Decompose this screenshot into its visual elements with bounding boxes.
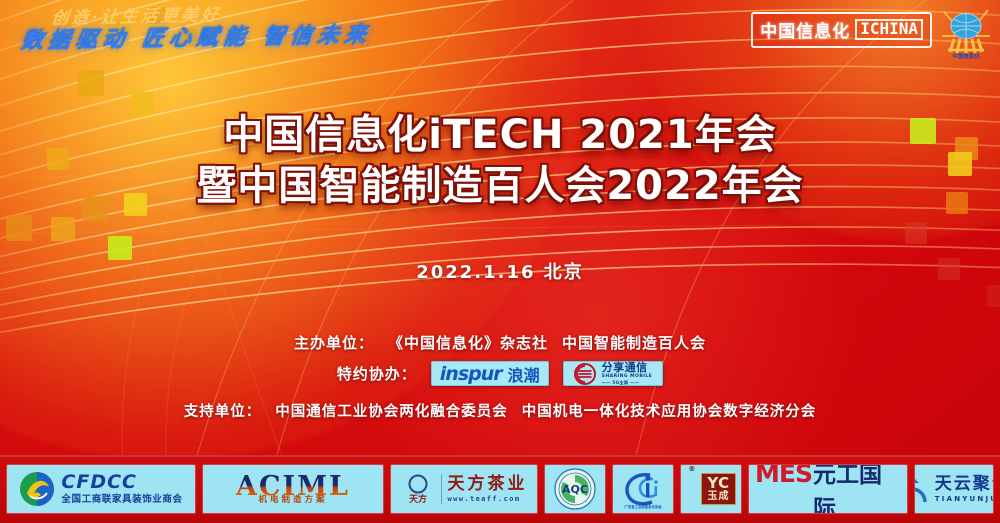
inspur-wordmark: inspur: [440, 363, 502, 385]
coorganizer-label: 特约协办：: [337, 363, 417, 384]
tianfang-cn-text: 天方茶业: [448, 476, 528, 493]
title-line-2: 暨中国智能制造百人会2022年会: [0, 163, 1000, 210]
conference-backdrop: 创造·让生活更美好 数据驱动 匠心赋能 智信未来 中国信息化 ICHINA 中国…: [0, 0, 1000, 523]
host-org-1: 《中国信息化》杂志社: [388, 332, 548, 353]
host-row: 主办单位： 《中国信息化》杂志社 中国智能制造百人会: [0, 332, 1000, 353]
tianfang-text: 天方茶业 www.teaff.com: [448, 476, 528, 503]
tianfang-divider: [441, 474, 442, 504]
aqc-certification-icon: AQC: [554, 468, 596, 510]
sharing-mobile-cn: 分享通信: [602, 362, 653, 373]
aciml-text: ACIML 机电制造方案: [236, 473, 350, 505]
support-label: 支持单位：: [184, 400, 262, 421]
masthead-logo: 中国信息化 ICHINA: [751, 12, 932, 48]
main-title-block: 中国信息化iTECH 2021年会 暨中国智能制造百人会2022年会: [0, 112, 1000, 210]
masthead-en-text: ICHINA: [855, 19, 923, 40]
cfdcc-en-text: CFDCC: [61, 473, 137, 492]
globe-emblem-icon: 中国信息化: [940, 6, 992, 62]
decorative-square: [905, 222, 927, 244]
mes-cn-text: 元工国际: [813, 464, 901, 514]
i-swoosh-icon: 广东省工业和信息化协会: [620, 469, 666, 509]
host-label: 主办单位：: [294, 332, 374, 353]
tianyun-arch-icon: [914, 473, 929, 505]
sharing-mobile-sub: —— 5G全网 ——: [602, 381, 653, 385]
aciml-cn-text: 机电制造方案: [258, 496, 327, 505]
title-line-1: 中国信息化iTECH 2021年会: [0, 112, 1000, 159]
host-org-2: 中国智能制造百人会: [562, 332, 706, 353]
logo-tianyunjuhe: 天云聚合 TIANYUNJUHE: [914, 464, 994, 514]
decorative-square: [51, 217, 75, 241]
svg-text:广东省工业和信息化协会: 广东省工业和信息化协会: [624, 504, 662, 509]
decorative-square: [78, 70, 104, 96]
yucheng-reg-mark: ®: [688, 465, 695, 473]
tianfang-url-text: www.teaff.com: [448, 496, 521, 503]
logo-mes: MES 元工国际: [748, 464, 908, 514]
cfdcc-text: CFDCC 全国工商联家具装饰业商会: [61, 473, 182, 505]
cfdcc-emblem-icon: [19, 471, 55, 507]
yucheng-cn-text: 玉成: [708, 492, 730, 502]
mes-en-text: MES: [755, 464, 812, 488]
blue-slogan-text: 数据驱动 匠心赋能 智信未来: [20, 17, 374, 55]
inspur-logo: inspur 浪潮: [431, 361, 549, 386]
decorative-square: [6, 215, 32, 241]
logo-aciml: ACIML 机电制造方案: [202, 464, 384, 514]
support-org-1: 中国通信工业协会两化融合委员会: [275, 400, 508, 421]
logo-cfdcc: CFDCC 全国工商联家具装饰业商会: [6, 464, 196, 514]
tianfang-circle-icon: 天方: [401, 472, 435, 506]
sharing-mobile-text: 分享通信 SHARING MOBILE —— 5G全网 ——: [602, 362, 653, 385]
masthead-cn-text: 中国信息化: [760, 17, 850, 42]
logo-tianfang-tea: 天方 天方茶业 www.teaff.com: [390, 464, 538, 514]
mes-text: MES 元工国际: [755, 464, 901, 514]
sharing-mobile-en: SHARING MOBILE: [602, 375, 653, 380]
tianyun-text: 天云聚合 TIANYUNJUHE: [935, 476, 994, 503]
logo-gdi-association: 广东省工业和信息化协会: [612, 464, 674, 514]
logo-aqc: AQC: [544, 464, 606, 514]
svg-text:天方: 天方: [408, 493, 426, 505]
sponsor-logo-bar: CFDCC 全国工商联家具装饰业商会 ACIML 机电制造方案 天方 天方茶业 …: [0, 455, 1000, 523]
decorative-square: [987, 285, 1000, 307]
coorganizer-row: 特约协办： inspur 浪潮 分享通信 SHARING MOBILE —— 5…: [0, 361, 1000, 386]
sharing-mobile-logo: 分享通信 SHARING MOBILE —— 5G全网 ——: [563, 361, 664, 386]
support-row: 支持单位： 中国通信工业协会两化融合委员会 中国机电一体化技术应用协会数字经济分…: [0, 400, 1000, 421]
cfdcc-cn-text: 全国工商联家具装饰业商会: [61, 495, 182, 505]
date-location-text: 2022.1.16 北京: [0, 258, 1000, 284]
sharing-mobile-mark-icon: [574, 363, 596, 385]
decorative-square: [108, 236, 132, 260]
yucheng-box: YC 玉成: [701, 473, 735, 505]
support-org-2: 中国机电一体化技术应用协会数字经济分会: [522, 400, 817, 421]
tianyun-cn-text: 天云聚合: [935, 476, 994, 493]
svg-text:中国信息化: 中国信息化: [952, 52, 980, 60]
credits-block: 主办单位： 《中国信息化》杂志社 中国智能制造百人会 特约协办： inspur …: [0, 332, 1000, 421]
svg-text:AQC: AQC: [562, 483, 588, 496]
yucheng-en-text: YC: [707, 476, 729, 491]
logo-yucheng: ® YC 玉成: [680, 464, 742, 514]
inspur-cn-text: 浪潮: [508, 362, 540, 386]
tianyun-en-text: TIANYUNJUHE: [935, 496, 994, 503]
